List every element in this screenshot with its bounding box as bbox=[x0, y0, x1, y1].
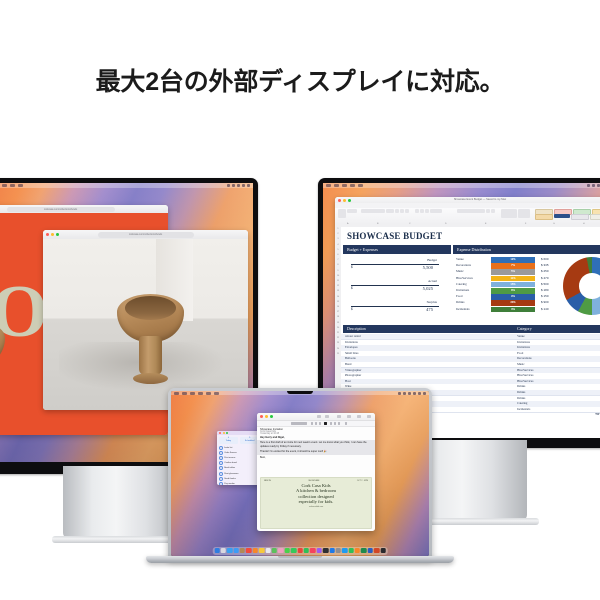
reminder-checkbox[interactable] bbox=[219, 456, 223, 460]
zoom-icon[interactable] bbox=[56, 233, 59, 236]
flag-icon[interactable] bbox=[347, 415, 351, 418]
mail-window[interactable]: Showcase Invitation Cork Casa Kids Yeste… bbox=[257, 413, 375, 531]
pages-icon[interactable] bbox=[355, 548, 360, 553]
distribution-amount: $ 250 bbox=[541, 269, 549, 273]
reminders-icon[interactable] bbox=[253, 548, 258, 553]
reminder-item-label: Book tables bbox=[224, 467, 235, 469]
distribution-bar-label: 15% bbox=[491, 282, 535, 288]
align-center-button[interactable] bbox=[420, 209, 424, 213]
table-header-row: Description bbox=[343, 325, 600, 333]
contacts-icon[interactable] bbox=[240, 548, 245, 553]
finder-icon[interactable] bbox=[214, 548, 219, 553]
maps-icon[interactable] bbox=[272, 548, 277, 553]
distribution-label: Invitations bbox=[456, 288, 469, 292]
reminder-checkbox[interactable] bbox=[219, 482, 223, 485]
distribution-label: Venue bbox=[456, 257, 464, 261]
close-icon[interactable] bbox=[46, 233, 49, 236]
distribution-label: Hire/Services bbox=[456, 276, 473, 280]
promo-card: NEW IN SHOWCASE OCT 2 · 6PM Cork Casa Ki… bbox=[260, 477, 372, 529]
excel-ribbon[interactable] bbox=[335, 208, 600, 224]
reminder-item-label: Pay vendor bbox=[224, 483, 235, 485]
promo-eyebrow-left: NEW IN bbox=[264, 480, 271, 482]
cut-button[interactable] bbox=[347, 209, 357, 213]
macbook-screen: 4 Today 9 Scheduled Invite listOrder flo… bbox=[171, 391, 429, 556]
mail-icon[interactable] bbox=[233, 548, 238, 553]
underline-button[interactable] bbox=[405, 209, 409, 213]
section-header-budget: Budget + Expenses bbox=[343, 245, 451, 254]
paste-button[interactable] bbox=[338, 209, 346, 218]
bold-button[interactable] bbox=[311, 422, 313, 424]
table-cell-category: Catering bbox=[517, 401, 527, 406]
promo-footer: corkcasakids.com bbox=[261, 505, 371, 510]
reminder-item-label: Confirm band bbox=[224, 462, 236, 464]
distribution-amount: $ 500 bbox=[541, 282, 549, 286]
reminder-checkbox[interactable] bbox=[219, 446, 223, 450]
table-cell-category: Drinks bbox=[517, 384, 525, 389]
column-header-b[interactable]: B bbox=[377, 223, 378, 225]
italic-button[interactable] bbox=[400, 209, 404, 213]
music-icon[interactable] bbox=[310, 548, 315, 553]
distribution-label: Decorations bbox=[456, 263, 471, 267]
table-cell-category: Invitations bbox=[517, 340, 530, 345]
reminders-tile-today-label: Today bbox=[219, 440, 239, 443]
indent-button[interactable] bbox=[338, 422, 340, 424]
address-bar-foreground[interactable]: corkcasa.com/collections/bowls bbox=[98, 232, 194, 238]
section-header-distribution: Expense Distribution bbox=[453, 245, 600, 254]
minimize-icon[interactable] bbox=[343, 199, 346, 202]
zoom-icon[interactable] bbox=[348, 199, 351, 202]
menu-bar-right-items[interactable] bbox=[326, 184, 363, 187]
forward-icon[interactable] bbox=[325, 415, 329, 418]
distribution-bar-label: 30% bbox=[491, 300, 535, 306]
close-icon[interactable] bbox=[219, 432, 221, 434]
menu-bar-left[interactable] bbox=[0, 183, 253, 188]
table-cell-category: Hire/Services bbox=[517, 368, 533, 373]
numbers-icon[interactable] bbox=[348, 548, 353, 553]
distribution-amount: $ 335 bbox=[541, 263, 549, 267]
distribution-amount: $ 900 bbox=[541, 300, 549, 304]
page-title: 最大2台の外部ディスプレイに対応。 bbox=[0, 62, 600, 98]
distribution-label: Music bbox=[456, 269, 464, 273]
kpi-surplus-currency: $ bbox=[351, 307, 353, 311]
table-cell-category: Drinks bbox=[517, 390, 525, 395]
distribution-bar-label: 12% bbox=[491, 257, 535, 263]
kpi-surplus-label: Surplus bbox=[427, 300, 437, 304]
macbook-status-icons[interactable] bbox=[398, 392, 426, 395]
distribution-bar-label: 11% bbox=[491, 276, 535, 282]
powerpoint-icon[interactable] bbox=[374, 548, 379, 553]
table-cell-description: 4-hour rental bbox=[345, 334, 361, 339]
notes-icon[interactable] bbox=[259, 548, 264, 553]
address-bar-text-foreground: corkcasa.com/collections/bowls bbox=[98, 232, 194, 237]
promo-eyebrow-right: OCT 2 · 6PM bbox=[357, 480, 368, 482]
ribbon-group-font[interactable] bbox=[361, 209, 409, 213]
distribution-label: Catering bbox=[456, 282, 467, 286]
distribution-bar-label: 8% bbox=[491, 288, 535, 294]
reminder-item-label: Invite list bbox=[224, 447, 232, 449]
column-header-g[interactable]: G bbox=[553, 223, 555, 225]
table-cell-description: Invitations bbox=[345, 340, 358, 345]
comma-style-button[interactable] bbox=[491, 209, 495, 213]
distribution-label: Drinks bbox=[456, 300, 464, 304]
underline-button[interactable] bbox=[319, 422, 321, 424]
column-header-e[interactable]: E bbox=[485, 223, 486, 225]
facetime-icon[interactable] bbox=[291, 548, 296, 553]
table-cell-category: Music bbox=[517, 362, 525, 367]
table-cell-description: Photographer bbox=[345, 373, 361, 378]
menu-bar-left-items[interactable] bbox=[0, 184, 23, 187]
percent-style-button[interactable] bbox=[486, 209, 490, 213]
kpi-actual-label: Actual bbox=[428, 279, 437, 283]
reminder-checkbox[interactable] bbox=[219, 477, 223, 481]
kpi-actual-currency: $ bbox=[351, 286, 353, 290]
mail-titlebar[interactable] bbox=[257, 413, 375, 421]
list-button[interactable] bbox=[330, 422, 332, 424]
cork-bowl-graphic-small bbox=[0, 321, 5, 407]
podcasts-icon[interactable] bbox=[316, 548, 321, 553]
address-bar-text-background: corkcasa.com/collections/bowls bbox=[7, 207, 115, 212]
table-cell-category: Venue bbox=[517, 334, 525, 339]
distribution-bar: 30% bbox=[491, 300, 535, 306]
kpi-budget-value: 5,500 bbox=[423, 265, 433, 270]
table-cell-category: Food bbox=[517, 351, 523, 356]
column-header-f[interactable]: F bbox=[525, 223, 526, 225]
distribution-amount: $ 470 bbox=[541, 276, 549, 280]
bowl-stem bbox=[139, 336, 162, 375]
font-size-select[interactable] bbox=[386, 209, 394, 213]
freeform-icon[interactable] bbox=[265, 548, 270, 553]
format-as-table-button[interactable] bbox=[518, 209, 530, 218]
reminder-checkbox[interactable] bbox=[219, 461, 223, 465]
distribution-bar: 11% bbox=[491, 276, 535, 282]
reminder-checkbox[interactable] bbox=[219, 472, 223, 476]
address-bar-background[interactable]: corkcasa.com/collections/bowls bbox=[7, 207, 115, 212]
ribbon-group-alignment[interactable] bbox=[415, 209, 442, 213]
cell-style-input[interactable] bbox=[535, 214, 553, 220]
table-cell-category: Drinks bbox=[517, 396, 525, 401]
distribution-bar: 7% bbox=[491, 263, 535, 269]
bold-button[interactable] bbox=[395, 209, 399, 213]
reminder-checkbox[interactable] bbox=[219, 466, 223, 470]
macbook-menu-items[interactable] bbox=[174, 392, 219, 395]
cell-style-note[interactable] bbox=[590, 214, 600, 220]
distribution-label: Food bbox=[456, 294, 462, 298]
column-header-h[interactable]: H bbox=[583, 223, 585, 225]
column-header-c[interactable]: C bbox=[409, 223, 411, 225]
safari-window-foreground[interactable]: corkcasa.com/collections/bowls bbox=[43, 230, 248, 410]
word-icon[interactable] bbox=[368, 548, 373, 553]
settings-icon[interactable] bbox=[336, 548, 341, 553]
kpi-budget-label: Budget bbox=[427, 258, 437, 262]
cell-style-check[interactable] bbox=[571, 214, 589, 220]
table-total-label: TOTAL EXPENSES bbox=[595, 413, 600, 416]
archive-icon[interactable] bbox=[337, 415, 341, 418]
expense-donut-chart bbox=[563, 257, 600, 315]
reminders-window[interactable]: 4 Today 9 Scheduled Invite listOrder flo… bbox=[217, 431, 261, 485]
distribution-amount: $ 140 bbox=[541, 307, 549, 311]
keynote-icon[interactable] bbox=[342, 548, 347, 553]
product-photo bbox=[43, 239, 248, 410]
table-cell-category: Invitations bbox=[517, 345, 530, 350]
distribution-bar: 9% bbox=[491, 294, 535, 300]
reminder-item-label: Rent glassware bbox=[224, 473, 238, 475]
table-cell-description: Small bites bbox=[345, 351, 358, 356]
column-header-d[interactable]: D bbox=[445, 223, 447, 225]
mail-signoff: Best, bbox=[257, 455, 375, 460]
table-cell-category: Hire/Services bbox=[517, 379, 533, 384]
table-cell-category: Decorations bbox=[517, 356, 532, 361]
color-swatch[interactable] bbox=[324, 422, 327, 424]
cork-bowl-graphic bbox=[117, 294, 185, 386]
reply-icon[interactable] bbox=[317, 415, 321, 418]
distribution-amount: $ 150 bbox=[541, 294, 549, 298]
safari-icon[interactable] bbox=[227, 548, 232, 553]
kpi-budget-currency: $ bbox=[351, 265, 353, 269]
table-header-category: Category bbox=[517, 325, 532, 333]
table-cell-description: Host bbox=[345, 379, 351, 384]
distribution-bar-label: 5% bbox=[491, 269, 535, 275]
ribbon-group-styles-row2[interactable] bbox=[535, 214, 600, 220]
site-wordmark: CO bbox=[0, 275, 46, 349]
menu-bar-status-icons-right[interactable] bbox=[587, 184, 600, 187]
mail-format-toolbar[interactable] bbox=[257, 421, 375, 427]
messages-icon[interactable] bbox=[285, 548, 290, 553]
reminder-checkbox[interactable] bbox=[219, 451, 223, 455]
table-cell-category: Hire/Services bbox=[517, 373, 533, 378]
close-icon[interactable] bbox=[260, 415, 263, 418]
ribbon-group-conditional[interactable] bbox=[501, 209, 530, 218]
conditional-formatting-button[interactable] bbox=[501, 209, 517, 218]
align-left-button[interactable] bbox=[415, 209, 419, 213]
promo-headline: Cork Casa Kids A kitchen & bedroom colle… bbox=[261, 482, 371, 505]
distribution-bar: 3% bbox=[491, 307, 535, 313]
table-cell-description: Band bbox=[345, 362, 351, 367]
section-header-distribution-label: Expense Distribution bbox=[453, 245, 600, 254]
more-icon[interactable] bbox=[367, 415, 371, 418]
table-cell-description: Videographer bbox=[345, 368, 361, 373]
macbook-pro: 4 Today 9 Scheduled Invite listOrder flo… bbox=[168, 388, 432, 560]
sheet-title: SHOWCASE BUDGET bbox=[347, 231, 442, 241]
italic-button[interactable] bbox=[315, 422, 317, 424]
distribution-bar-label: 7% bbox=[491, 263, 535, 269]
minimize-icon[interactable] bbox=[51, 233, 54, 236]
distribution-bar: 15% bbox=[491, 282, 535, 288]
news-icon[interactable] bbox=[297, 548, 302, 553]
distribution-label: Incidentals bbox=[456, 307, 470, 311]
minimize-icon[interactable] bbox=[265, 415, 268, 418]
macbook-base bbox=[146, 556, 454, 563]
macos-dock[interactable] bbox=[213, 547, 388, 555]
cell-style-calculation[interactable] bbox=[554, 214, 570, 218]
attach-icon[interactable] bbox=[345, 422, 347, 424]
delete-icon[interactable] bbox=[357, 415, 361, 418]
minimize-icon[interactable] bbox=[223, 432, 225, 434]
close-icon[interactable] bbox=[338, 199, 341, 202]
distribution-amount: $ 600 bbox=[541, 257, 549, 261]
reminder-item[interactable]: Pay vendor bbox=[217, 481, 261, 485]
tv-icon[interactable] bbox=[323, 548, 328, 553]
font-select[interactable] bbox=[291, 422, 307, 424]
zoom-icon[interactable] bbox=[226, 432, 228, 434]
kpi-surplus-value: 475 bbox=[426, 307, 433, 312]
reminders-list[interactable]: Invite listOrder flowersPrint menusConfi… bbox=[217, 445, 261, 485]
reminders-tile-today[interactable]: 4 Today bbox=[219, 437, 239, 444]
number-format-select[interactable] bbox=[457, 209, 485, 213]
reminders-smart-lists[interactable]: 4 Today 9 Scheduled bbox=[217, 435, 261, 445]
distribution-bar: 5% bbox=[491, 269, 535, 275]
table-cell-category: Incidentals bbox=[517, 407, 530, 412]
macbook-lip bbox=[278, 556, 322, 558]
reminder-item-label: Order flowers bbox=[224, 452, 236, 454]
wrap-text-button[interactable] bbox=[430, 209, 442, 213]
distribution-bar: 8% bbox=[491, 288, 535, 294]
bowl-cup-small bbox=[0, 321, 5, 366]
appstore-icon[interactable] bbox=[329, 548, 334, 553]
bowl-base bbox=[133, 373, 168, 384]
column-header-a[interactable]: A bbox=[347, 223, 348, 225]
align-button[interactable] bbox=[334, 422, 336, 424]
kpi-actual-value: 5,025 bbox=[423, 286, 433, 291]
distribution-bar-label: 3% bbox=[491, 307, 535, 313]
launchpad-icon[interactable] bbox=[221, 548, 226, 553]
align-right-button[interactable] bbox=[425, 209, 429, 213]
mail-paragraph-1: Here is a first draft of an invite for n… bbox=[257, 440, 375, 449]
promo-eyebrow-center: SHOWCASE bbox=[308, 480, 319, 482]
distribution-amount: $ 180 bbox=[541, 288, 549, 292]
calendar-icon[interactable] bbox=[246, 548, 251, 553]
reminder-item-label: Send thanks bbox=[224, 478, 236, 480]
menu-bar-status-icons-left[interactable] bbox=[227, 184, 250, 187]
font-name-select[interactable] bbox=[361, 209, 385, 213]
ribbon-group-number[interactable] bbox=[457, 209, 495, 213]
marketing-page: 最大2台の外部ディスプレイに対応。 corkcasa.com/colle bbox=[0, 0, 600, 600]
camera-notch bbox=[287, 391, 313, 394]
table-cell-description: Envelopes bbox=[345, 345, 358, 350]
distribution-bar-label: 9% bbox=[491, 294, 535, 300]
excel-icon[interactable] bbox=[361, 548, 366, 553]
section-header-budget-label: Budget + Expenses bbox=[343, 245, 451, 254]
stand-neck-left bbox=[63, 466, 181, 538]
photos-icon[interactable] bbox=[278, 548, 283, 553]
table-cell-description: Balloons bbox=[345, 356, 356, 361]
distribution-bar: 12% bbox=[491, 257, 535, 263]
excel-document-title: Showcase Event Budget — Saved to my Mac bbox=[454, 198, 506, 201]
reminder-item-label: Print menus bbox=[224, 457, 235, 459]
menu-bar-right[interactable] bbox=[323, 183, 600, 188]
trash-icon[interactable] bbox=[380, 548, 385, 553]
zoom-icon[interactable] bbox=[270, 415, 273, 418]
ribbon-group-clipboard[interactable] bbox=[338, 209, 357, 218]
stocks-icon[interactable] bbox=[304, 548, 309, 553]
table-header-description: Description bbox=[343, 325, 600, 333]
